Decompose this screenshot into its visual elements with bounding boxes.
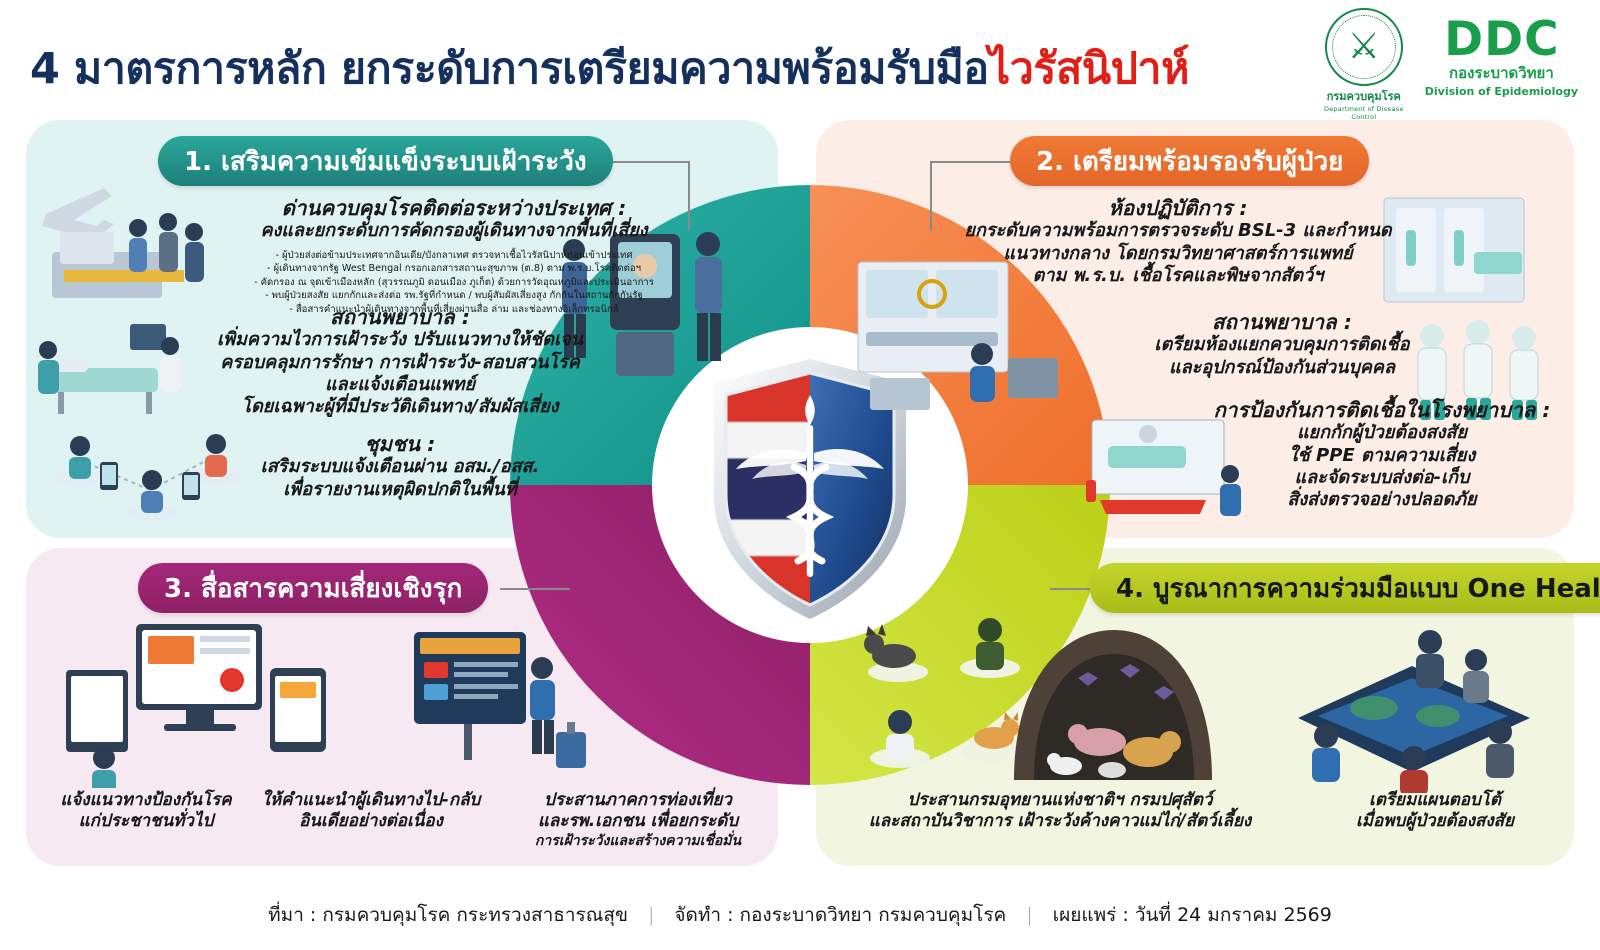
s2-a-title: ห้องปฏิบัติการ : [960,196,1396,220]
s3-c3-line-1: ประสานภาคการท่องเที่ยว [498,790,778,811]
s1-bullet-2: - ผู้เดินทางจากรัฐ West Bengal กรอกเอกสา… [244,262,664,276]
s1-b-title: สถานพยาบาล : [160,305,640,329]
s1-block-community: ชุมชน : เสริมระบบแจ้งเตือนผ่าน อสม./อสส.… [210,432,590,501]
ddc-letters: D D C [1425,18,1578,63]
dog-icon [864,624,916,668]
illustration-travel-advisory-board [404,622,594,792]
s2-c-line-3: และจัดระบบส่งต่อ-เก็บ [1176,467,1588,489]
s2-c-title: การป้องกันการติดเชื้อในโรงพยาบาล : [1176,398,1588,422]
s3-caption-2: ให้คำแนะนำผู้เดินทางไป-กลับ อินเดียอย่าง… [246,790,496,833]
illustration-meeting-table [1262,608,1562,793]
caduceus-icon: ⚔ [1348,29,1380,65]
connector-line-1b [688,161,690,231]
footer-separator-2: | [1020,904,1038,926]
ddc-letter-1: D [1444,18,1483,63]
page-title-main: 4 มาตรการหลัก ยกระดับการเตรียมความพร้อมร… [30,44,989,94]
s4-c1-line-2: และสถาบันวิชาการ เฝ้าระวังค้างคาวแม่ไก่/… [830,811,1290,832]
s1-bullet-4: - พบผู้ป่วยสงสัย แยกกักและส่งต่อ รพ.รัฐท… [244,289,664,303]
s2-c-line-1: แยกกักผู้ป่วยต้องสงสัย [1176,422,1588,444]
section-4-title-pill[interactable]: 4. บูรณาการความร่วมมือแบบ One Health [1090,563,1600,613]
s1-b-line-1: เพิ่มความไวการเฝ้าระวัง ปรับแนวทางให้ชัด… [160,329,640,351]
illustration-media-devices [56,608,356,788]
illustration-bat-cave [1008,620,1218,788]
s1-b-line-3: และแจ้งเตือนแพทย์ [160,374,640,396]
connector-line-1 [600,161,690,163]
moph-logo: ⚔ กรมควบคุมโรค Department of Disease Con… [1315,8,1413,121]
moph-name-th: กรมควบคุมโรค [1315,87,1413,105]
s1-a-body: คงและยกระดับการคัดกรองผู้เดินทางจากพื้นท… [244,220,664,242]
s4-caption-2: เตรียมแผนตอบโต้ เมื่อพบผู้ป่วยต้องสงสัย [1300,790,1570,833]
footer-publish-date: เผยแพร่ : วันที่ 24 มกราคม 2569 [1053,900,1332,930]
s2-c-line-2: ใช้ PPE ตามความเสี่ยง [1176,445,1588,467]
s3-c3-line-3: การเฝ้าระวังและสร้างความเชื่อมั่น [498,833,778,851]
logo-block: ⚔ กรมควบคุมโรค Department of Disease Con… [1315,8,1578,121]
s2-c-line-4: สิ่งส่งตรวจอย่างปลอดภัย [1176,489,1588,511]
connector-line-2b [930,161,932,231]
s2-block-hospital: สถานพยาบาล : เตรียมห้องแยกควบคุมการติดเช… [1086,310,1478,379]
page-title: 4 มาตรการหลัก ยกระดับการเตรียมความพร้อมร… [30,34,1189,102]
s1-block-border-control: ด่านควบคุมโรคติดต่อระหว่างประเทศ : คงและ… [244,196,664,317]
illustration-isolation-room [1374,190,1534,320]
connector-line-2 [930,161,1014,163]
s2-a-line-3: ตาม พ.ร.บ. เชื้อโรคและพิษจากสัตว์ฯ [960,265,1396,287]
ddc-letter-3: C [1524,18,1559,63]
s3-c1-line-2: แก่ประชาชนทั่วไป [36,811,256,832]
section-2-title-pill[interactable]: 2. เตรียมพร้อมรองรับผู้ป่วย [1010,136,1369,186]
s3-c2-line-1: ให้คำแนะนำผู้เดินทางไป-กลับ [246,790,496,811]
connector-line-3 [500,588,570,590]
s1-block-hospital: สถานพยาบาล : เพิ่มความไวการเฝ้าระวัง ปรั… [160,305,640,418]
s2-b-line-2: และอุปกรณ์ป้องกันส่วนบุคคล [1086,357,1478,379]
page-footer: ที่มา : กรมควบคุมโรค กระทรวงสาธารณสุข | … [0,880,1600,950]
s3-c2-line-2: อินเดียอย่างต่อเนื่อง [246,811,496,832]
s4-c2-line-1: เตรียมแผนตอบโต้ [1300,790,1570,811]
s4-caption-1: ประสานกรมอุทยานแห่งชาติฯ กรมปศุสัตว์ และ… [830,790,1290,833]
s1-a-title: ด่านควบคุมโรคติดต่อระหว่างประเทศ : [244,196,664,220]
footer-source: ที่มา : กรมควบคุมโรค กระทรวงสาธารณสุข [268,900,628,930]
s1-b-line-4: โดยเฉพาะผู้ที่มีประวัติเดินทาง/สัมผัสเสี… [160,396,640,418]
ddc-logo: D D C กองระบาดวิทยา Division of Epidemio… [1425,8,1578,98]
section-3-title-pill[interactable]: 3. สื่อสารความเสี่ยงเชิงรุก [138,563,488,613]
s1-c-title: ชุมชน : [210,432,590,456]
moph-seal-icon: ⚔ [1325,8,1403,86]
footer-producer: จัดทำ : กองระบาดวิทยา กรมควบคุมโรค [674,900,1006,930]
footer-separator-1: | [642,904,660,926]
s2-block-infection-prevention: การป้องกันการติดเชื้อในโรงพยาบาล : แยกกั… [1176,398,1588,511]
s2-a-line-1: ยกระดับความพร้อมการตรวจระดับ BSL-3 และกำ… [960,220,1396,242]
section-1-title-pill[interactable]: 1. เสริมความเข้มแข็งระบบเฝ้าระวัง [158,136,613,186]
s4-c1-line-1: ประสานกรมอุทยานแห่งชาติฯ กรมปศุสัตว์ [830,790,1290,811]
s3-c3-line-2: และรพ.เอกชน เพื่อยกระดับ [498,811,778,832]
ddc-name-en: Division of Epidemiology [1425,85,1578,98]
ddc-letter-2: D [1484,18,1523,63]
s1-bullet-1: - ผู้ป่วยส่งต่อข้ามประเทศจากอินเดีย/บังก… [244,249,664,263]
s3-caption-3: ประสานภาคการท่องเที่ยว และรพ.เอกชน เพื่อ… [498,790,778,850]
s1-bullet-3: - คัดกรอง ณ จุดเข้าเมืองหลัก (สุวรรณภูมิ… [244,276,664,290]
s1-c-line-2: เพื่อรายงานเหตุผิดปกติในพื้นที่ [210,479,590,501]
page-title-accent: ไวรัสนิปาห์ [989,44,1189,94]
s2-b-line-1: เตรียมห้องแยกควบคุมการติดเชื้อ [1086,334,1478,356]
s2-a-line-2: แนวทางกลาง โดยกรมวิทยาศาสตร์การแพทย์ [960,243,1396,265]
s2-b-title: สถานพยาบาล : [1086,310,1478,334]
s3-c1-line-1: แจ้งแนวทางป้องกันโรค [36,790,256,811]
s3-caption-1: แจ้งแนวทางป้องกันโรค แก่ประชาชนทั่วไป [36,790,256,833]
moph-name-en: Department of Disease Control [1315,105,1413,121]
s2-block-laboratory: ห้องปฏิบัติการ : ยกระดับความพร้อมการตรวจ… [960,196,1396,287]
s1-c-line-1: เสริมระบบแจ้งเตือนผ่าน อสม./อสส. [210,456,590,478]
s4-c2-line-2: เมื่อพบผู้ป่วยต้องสงสัย [1300,811,1570,832]
page-header: 4 มาตรการหลัก ยกระดับการเตรียมความพร้อมร… [0,0,1600,112]
s1-b-line-2: ครอบคลุมการรักษา การเฝ้าระวัง-สอบสวนโรค [160,352,640,374]
